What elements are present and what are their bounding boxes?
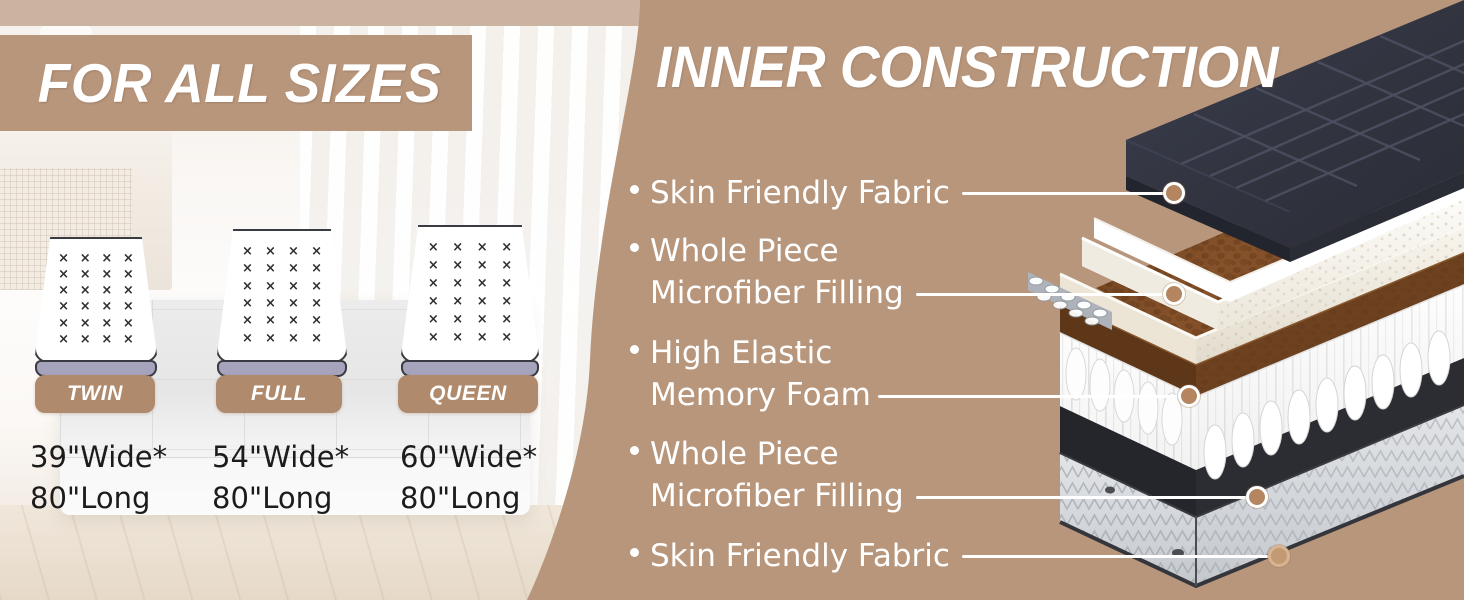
bullet-icon xyxy=(630,243,639,252)
feature-line: High Elastic xyxy=(650,332,871,374)
connector-endpoint-4 xyxy=(1246,486,1268,508)
bullet-icon xyxy=(630,185,639,194)
feature-high-elastic-memory-foam: High Elastic Memory Foam xyxy=(630,332,871,416)
connector-line-1 xyxy=(962,192,1172,195)
feature-line: Microfiber Filling xyxy=(650,272,904,314)
feature-line: Whole Piece xyxy=(650,433,904,475)
feature-callouts: Skin Friendly Fabric Whole Piece Microfi… xyxy=(0,0,1464,600)
feature-skin-friendly-fabric-bottom: Skin Friendly Fabric xyxy=(630,535,950,577)
feature-skin-friendly-fabric-top: Skin Friendly Fabric xyxy=(630,172,950,214)
feature-microfiber-filling-lower: Whole Piece Microfiber Filling xyxy=(630,433,904,517)
bullet-icon xyxy=(630,548,639,557)
feature-microfiber-filling-upper: Whole Piece Microfiber Filling xyxy=(630,230,904,314)
connector-line-4 xyxy=(916,496,1254,499)
connector-line-5 xyxy=(962,555,1276,558)
bullet-icon xyxy=(630,345,639,354)
connector-line-3 xyxy=(878,395,1186,398)
connector-endpoint-2 xyxy=(1163,283,1185,305)
connector-endpoint-5 xyxy=(1268,545,1290,567)
feature-line: Skin Friendly Fabric xyxy=(650,172,950,214)
infographic-root: FOR ALL SIZES ×××××××××××××××××××××××× ×… xyxy=(0,0,1464,600)
connector-line-2 xyxy=(916,293,1172,296)
feature-line: Microfiber Filling xyxy=(650,475,904,517)
connector-endpoint-1 xyxy=(1163,182,1185,204)
bullet-icon xyxy=(630,446,639,455)
feature-line: Whole Piece xyxy=(650,230,904,272)
feature-line: Skin Friendly Fabric xyxy=(650,535,950,577)
feature-line: Memory Foam xyxy=(650,374,871,416)
connector-endpoint-3 xyxy=(1178,385,1200,407)
